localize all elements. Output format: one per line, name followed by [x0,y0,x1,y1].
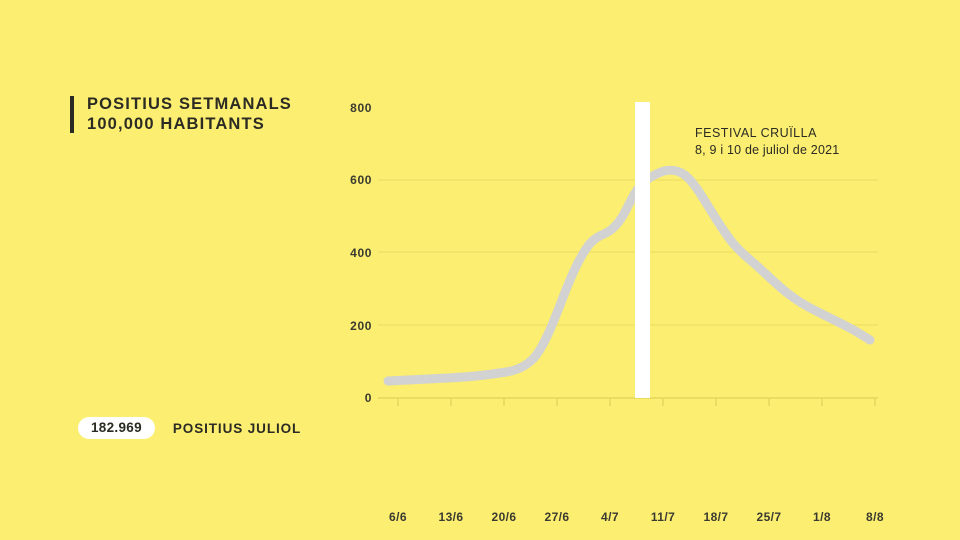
festival-annotation: FESTIVAL CRUÏLLA 8, 9 i 10 de juliol de … [695,125,839,159]
y-tick-label-200: 200 [336,319,372,333]
x-tick-label-1: 13/6 [429,510,473,524]
x-tick-label-8: 1/8 [800,510,844,524]
stat-value-pill: 182.969 [78,417,155,439]
annotation-title: FESTIVAL CRUÏLLA [695,125,839,142]
series-line-positius [388,170,870,381]
footer-stat: 182.969 POSITIUS JULIOL [78,417,301,439]
y-tick-label-600: 600 [336,173,372,187]
x-tick-label-0: 6/6 [376,510,420,524]
title-line-1: POSITIUS SETMANALS [87,94,292,114]
y-tick-label-0: 0 [336,391,372,405]
title-line-2: 100,000 HABITANTS [87,114,292,134]
plot-area: 800 600 400 200 0 6/6 13/6 20/6 27/6 4/7… [330,90,930,440]
stat-label: POSITIUS JULIOL [173,421,301,436]
title-accent-bar [70,96,74,133]
title-lines: POSITIUS SETMANALS 100,000 HABITANTS [87,94,292,134]
line-chart-svg [330,90,930,540]
x-tick-label-2: 20/6 [482,510,526,524]
x-tick-label-6: 18/7 [694,510,738,524]
x-tick-label-4: 4/7 [588,510,632,524]
y-tick-label-800: 800 [336,101,372,115]
x-tick-label-3: 27/6 [535,510,579,524]
x-tick-label-9: 8/8 [853,510,897,524]
page-title: POSITIUS SETMANALS 100,000 HABITANTS [70,94,292,134]
chart-canvas: POSITIUS SETMANALS 100,000 HABITANTS [0,0,960,540]
festival-band [635,102,650,398]
x-axis-ticks [398,398,875,406]
x-tick-label-7: 25/7 [747,510,791,524]
annotation-subtitle: 8, 9 i 10 de juliol de 2021 [695,142,839,159]
x-tick-label-5: 11/7 [641,510,685,524]
y-tick-label-400: 400 [336,246,372,260]
